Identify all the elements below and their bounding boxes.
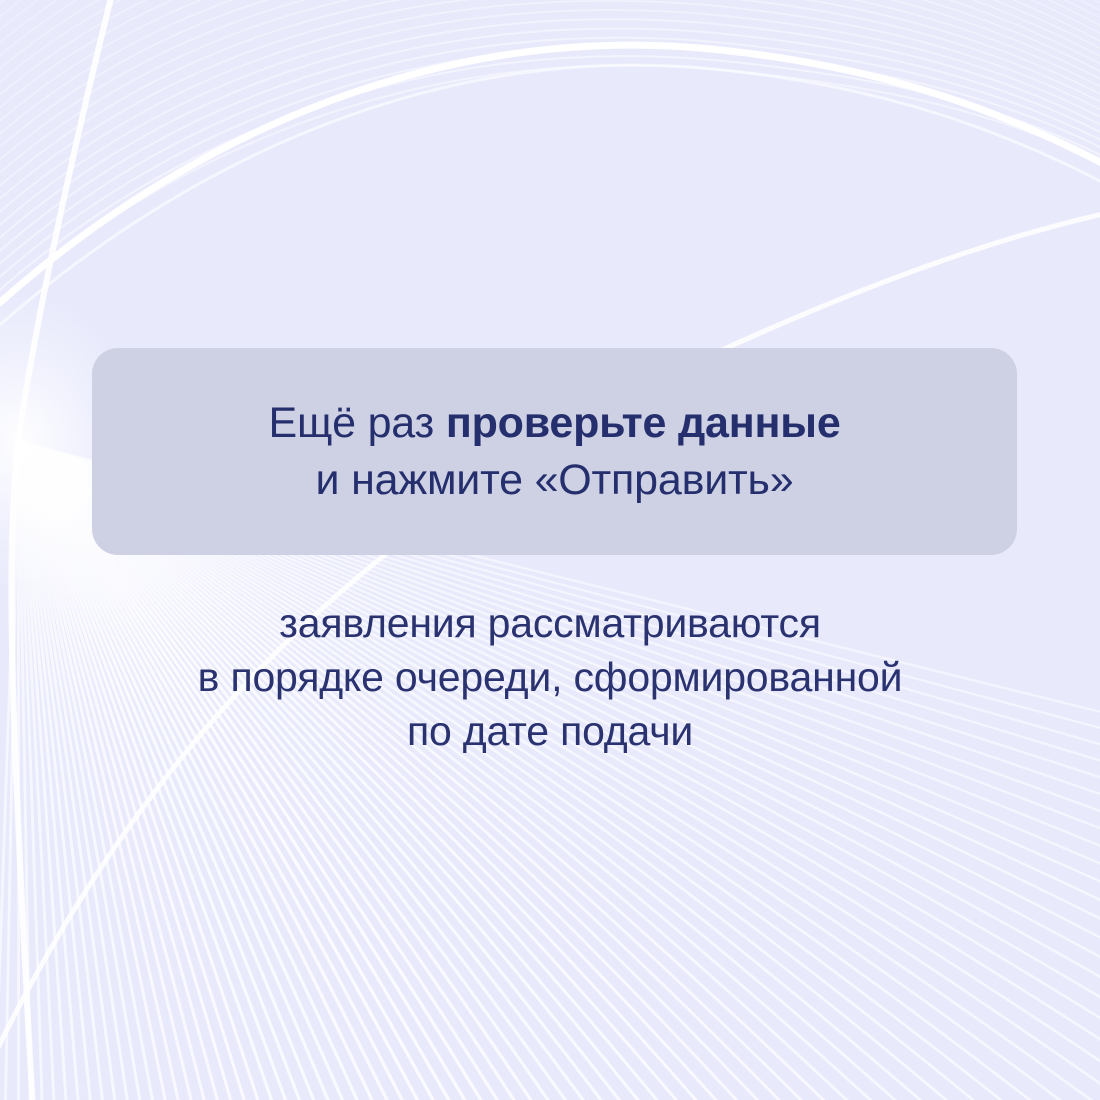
headline-card: Ещё раз проверьте данные и нажмите «Отпр… xyxy=(92,348,1017,555)
subtext-line-1: заявления рассматриваются xyxy=(0,596,1100,650)
headline-strong: проверьте данные xyxy=(446,399,841,447)
subtext-line-2: в порядке очереди, сформированной xyxy=(0,650,1100,704)
headline-prefix: Ещё раз xyxy=(268,399,445,447)
headline-line-2: и нажмите «Отправить» xyxy=(316,452,794,509)
slide-root: Ещё раз проверьте данные и нажмите «Отпр… xyxy=(0,0,1100,1100)
content-layer: Ещё раз проверьте данные и нажмите «Отпр… xyxy=(0,0,1100,1100)
subtext-line-3: по дате подачи xyxy=(0,704,1100,758)
headline-line-1: Ещё раз проверьте данные xyxy=(268,395,840,452)
subtext-block: заявления рассматриваются в порядке очер… xyxy=(0,596,1100,758)
